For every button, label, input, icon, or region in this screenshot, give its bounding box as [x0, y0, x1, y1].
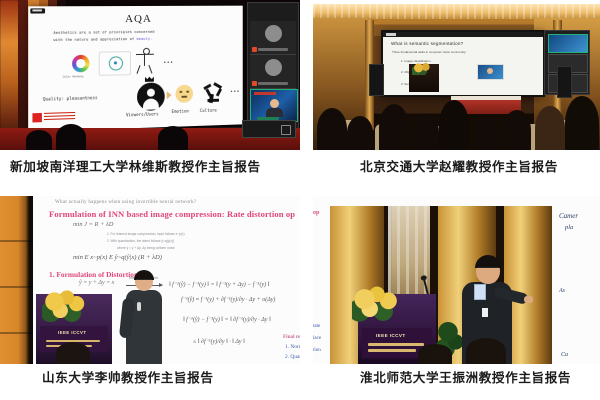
audience-member	[347, 116, 373, 150]
audience-member	[413, 114, 439, 150]
podium-banner-text: IEEE ICCVT	[376, 333, 406, 338]
ceiling-lights	[313, 4, 600, 19]
slide-line-2: with the nature and appreciation of	[53, 37, 136, 42]
photo-top-left: AQA Aesthetics are a set of principles c…	[0, 0, 300, 150]
podium-banner-text: IEEE ICCVT	[58, 330, 86, 335]
slide-surface: AQA Aesthetics are a set of principles c…	[28, 6, 243, 132]
slide-title: What is semantic segmentation?	[391, 41, 463, 46]
slide-equation-r1: ‖ f⁻¹(ŷ) − f⁻¹(y) ‖ = ‖ f⁻¹(y + Δy) − f⁻…	[169, 281, 269, 288]
slide-left-text-3: lace	[313, 336, 321, 341]
university-logo-text	[44, 112, 75, 122]
slide-note-2: 2. With quantization, the latent follows…	[107, 239, 174, 243]
slide-left-text-4: tion	[313, 348, 321, 353]
flower-arrangement	[42, 288, 90, 322]
photo-bottom-left: What actually happens when using inverti…	[0, 196, 300, 364]
emotion-face-icon	[176, 85, 194, 103]
participant-thumbnail	[250, 21, 296, 55]
slide-bullet: Three fundamental tasks in computer visi…	[392, 50, 466, 54]
slide-bullet: What actually happens when using inverti…	[55, 200, 196, 205]
caption-bottom-left: 山东大学李帅教授作主旨报告	[42, 372, 214, 385]
quality-label: Quality: pleasantness	[43, 95, 98, 102]
slide-left-text-2: tate	[313, 324, 320, 329]
video-participant-rail	[247, 2, 299, 130]
control-monitor	[242, 120, 296, 138]
slide-equation-1: min J = R + λD	[73, 221, 113, 228]
audience-member	[535, 106, 565, 150]
viewers-label: Viewers/Users	[126, 111, 159, 117]
color-wheel-label: Color Harmony	[63, 75, 84, 79]
culture-label: Culture	[200, 108, 217, 113]
audience-member	[379, 104, 409, 150]
caption-top-right: 北京交通大学赵耀教授作主旨报告	[360, 161, 558, 174]
participant-thumbnail	[250, 55, 296, 89]
projection-screen: AQA Aesthetics are a set of principles c…	[28, 6, 243, 132]
photo-collage-page: AQA Aesthetics are a set of principles c…	[0, 0, 600, 400]
projection-screen: What is semantic segmentation? Three fun…	[381, 30, 545, 97]
speaker-person	[124, 272, 164, 364]
culture-knot-icon	[202, 81, 225, 105]
participant-active-speaker	[250, 89, 298, 122]
flower-arrangement	[412, 62, 434, 75]
slide-right-text-4: Ca	[561, 352, 568, 358]
flower-arrangement	[352, 284, 404, 324]
photo-bottom-right: op tate lace tion IEEE ICCVT	[313, 196, 600, 364]
slide-heading-1: Formulation of INN based image compressi…	[49, 209, 295, 219]
color-wheel-icon	[72, 55, 89, 73]
slide-title: AQA	[28, 12, 243, 25]
microphone-icon	[137, 302, 141, 311]
slide-highlight: beauty.	[137, 37, 153, 41]
audience-member	[565, 96, 599, 150]
side-wall	[0, 196, 33, 364]
slide-left-text-1: op	[313, 210, 319, 216]
final-item-2: 2. Quantization	[285, 354, 300, 360]
audience-member	[503, 110, 531, 150]
audience-head	[26, 130, 52, 150]
slide-right-text-3: As	[559, 288, 565, 294]
audience-head	[158, 126, 188, 150]
loudspeaker	[369, 64, 384, 96]
mic-muted-icon	[252, 81, 257, 86]
crown-icon	[145, 77, 154, 82]
audience-head	[418, 344, 452, 364]
photo-top-right: What is semantic segmentation? Three fun…	[313, 4, 600, 150]
name-badge	[482, 308, 488, 317]
caption-bottom-right: 淮北师范大学王振洲教授作主旨报告	[360, 372, 571, 385]
slide-note-3: where ŷ = y + Δy, Δy being uniform noise	[117, 246, 175, 250]
slide-equation-r3: ‖ f⁻¹(ŷ) − f⁻¹(y) ‖ = ‖ ∂f⁻¹(y)/∂y · Δy …	[183, 316, 271, 323]
slide-body-text: Aesthetics are a set of principles conce…	[53, 28, 213, 43]
audience-head	[466, 338, 506, 364]
audience-member	[317, 108, 347, 150]
university-logo-icon	[32, 113, 41, 123]
audience-head	[56, 124, 86, 150]
slide-line-1: Aesthetics are a set of principles conce…	[53, 30, 154, 35]
participant-active-speaker	[548, 34, 588, 53]
slide-right-text-1: Camer	[559, 212, 578, 220]
slide-equation-r4: ≤ ‖ ∂f⁻¹(y)/∂y ‖ · ‖ Δy ‖	[193, 338, 245, 345]
emotion-label: Emotion	[172, 108, 189, 113]
tripod-icon	[134, 48, 156, 74]
audience-member	[475, 116, 499, 150]
loudspeaker	[557, 66, 572, 98]
arrow-icon	[167, 91, 172, 99]
slide-right-text-2: pla	[565, 224, 573, 231]
final-representation-title: Final representation	[283, 334, 300, 340]
audience-member	[439, 100, 469, 150]
slide-equation-3: ŷ = y + Δy = x	[79, 280, 114, 286]
final-item-1: 1. Norm of Jaco	[285, 344, 300, 350]
slide-equation-2: min E x~p(x) E ŷ~q(ŷ|x) (R + λD)	[73, 254, 162, 261]
slide-equation-r2: f⁻¹(ŷ) ≈ f⁻¹(y) + ∂f⁻¹(y)/∂y · Δy + o(Δy…	[181, 296, 275, 303]
stage-photo-region: IEEE ICCVT	[330, 206, 552, 364]
slide-note-1: 1. For learned image compression, input …	[107, 232, 185, 236]
mic-muted-icon	[252, 47, 257, 52]
slide-control-icon	[474, 284, 486, 300]
person-avatar-icon	[137, 82, 165, 111]
slide-window-bar	[383, 32, 543, 37]
ellipsis-bottom: •••	[230, 89, 240, 95]
ellipsis-top: •••	[164, 60, 174, 66]
audience-head	[56, 342, 90, 364]
speaker-video-thumbnail	[477, 64, 504, 80]
caption-top-left: 新加坡南洋理工大学林维斯教授作主旨报告	[10, 161, 261, 174]
